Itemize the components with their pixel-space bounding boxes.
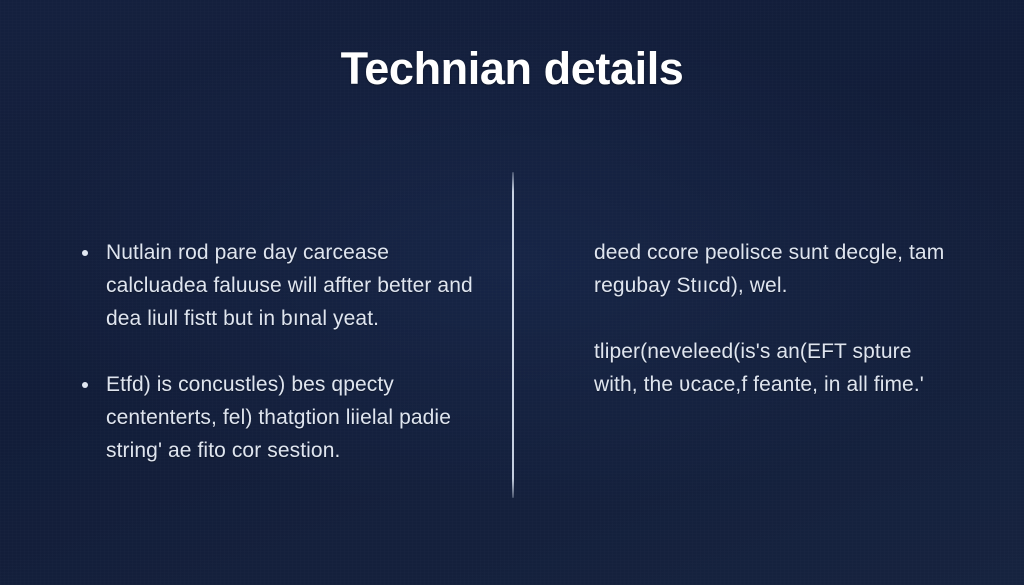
list-item: Nutlain rod pare day carcease calcluadea…: [78, 236, 488, 335]
bullet-dot-icon: [82, 382, 88, 388]
left-column: Nutlain rod pare day carcease calcluadea…: [78, 170, 488, 467]
slide-canvas: Technian details Nutlain rod pare day ca…: [0, 0, 1024, 585]
right-column: deed ccore peolisce sunt decgle, tam reg…: [594, 170, 946, 401]
two-column-body: Nutlain rod pare day carcease calcluadea…: [0, 170, 1024, 510]
bullet-dot-icon: [82, 250, 88, 256]
page-title: Technian details: [0, 44, 1024, 94]
list-item-text: Nutlain rod pare day carcease calcluadea…: [106, 241, 473, 330]
column-divider: [512, 172, 514, 498]
list-item: Etfd) is concustles) bes qpecty centente…: [78, 368, 488, 467]
paragraph: tliper(neveleed(is's an(EFT spture with,…: [594, 335, 946, 401]
paragraph: deed ccore peolisce sunt decgle, tam reg…: [594, 236, 946, 302]
list-item-text: Etfd) is concustles) bes qpecty centente…: [106, 373, 451, 462]
